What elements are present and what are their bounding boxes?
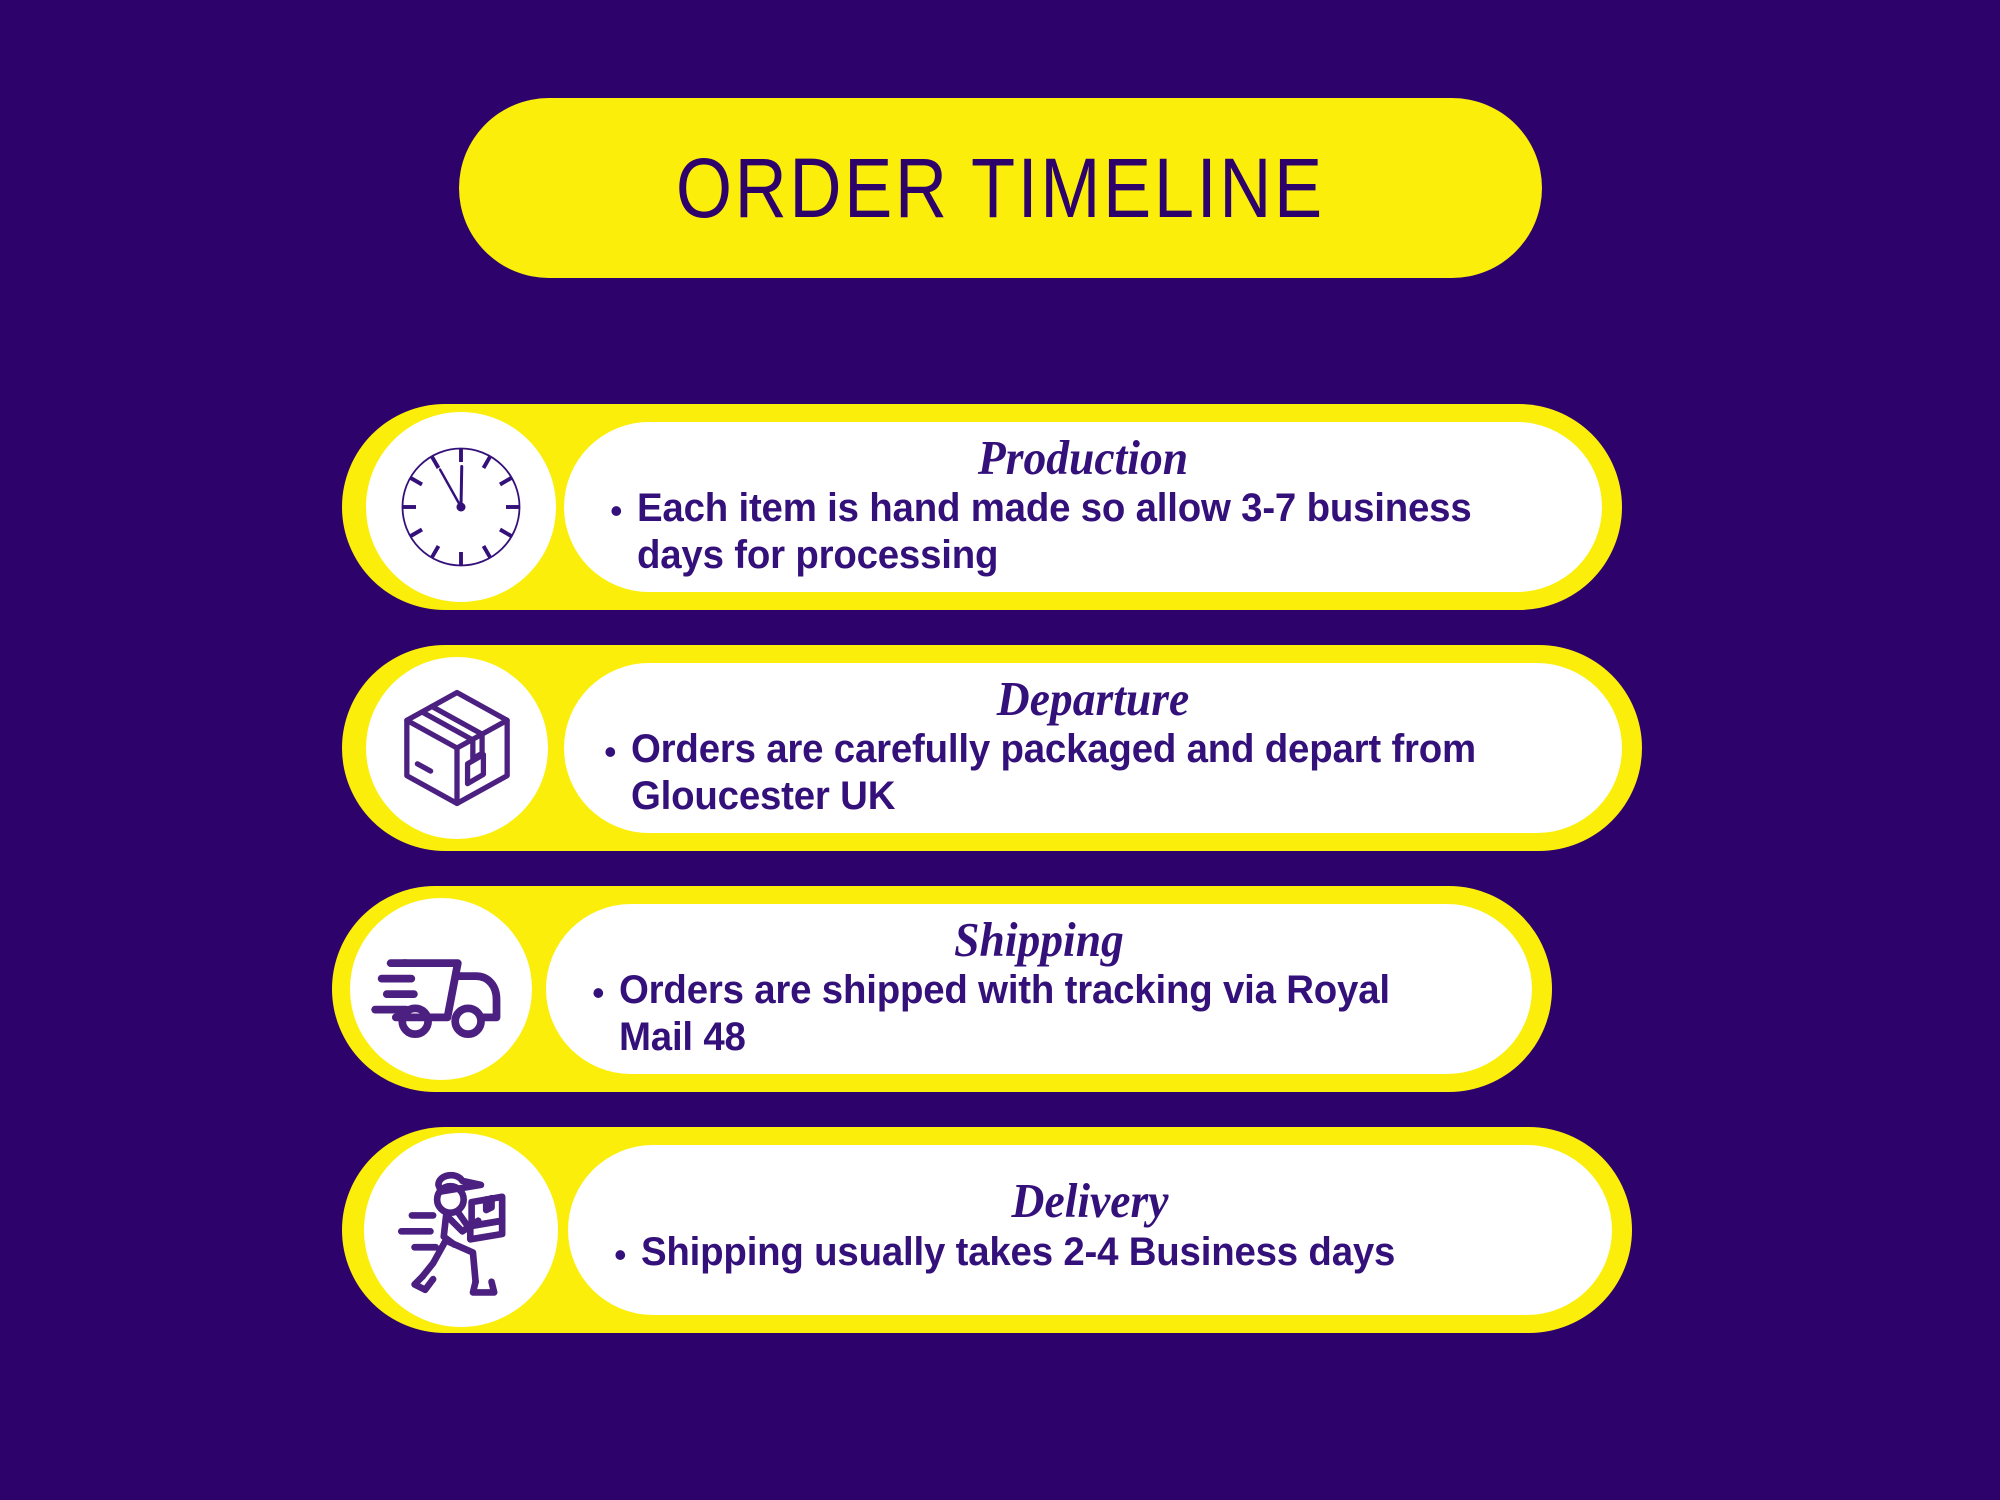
step-bullet-text: Orders are shipped with tracking via Roy… xyxy=(619,967,1457,1060)
step-bullet: • Each item is hand made so allow 3-7 bu… xyxy=(610,485,1562,578)
page-title: ORDER TIMELINE xyxy=(676,146,1325,230)
bullet-marker-icon: • xyxy=(592,967,605,1019)
bullet-marker-icon: • xyxy=(610,485,623,537)
step-content-panel: Production • Each item is hand made so a… xyxy=(564,422,1602,592)
step-content-panel: Departure • Orders are carefully package… xyxy=(564,663,1622,833)
step-title: Delivery xyxy=(642,1175,1539,1226)
step-bullet: • Orders are carefully packaged and depa… xyxy=(604,726,1582,819)
timeline-steps-list: Production • Each item is hand made so a… xyxy=(0,404,2000,1333)
timeline-step-delivery[interactable]: Delivery • Shipping usually takes 2-4 Bu… xyxy=(342,1127,1632,1333)
step-bullet-text: Each item is hand made so allow 3-7 busi… xyxy=(637,485,1525,578)
step-bullet-text: Shipping usually takes 2-4 Business days xyxy=(641,1229,1395,1275)
step-bullet-text: Orders are carefully packaged and depart… xyxy=(631,726,1544,819)
bullet-marker-icon: • xyxy=(614,1229,627,1281)
package-box-icon xyxy=(366,657,548,839)
timeline-step-departure[interactable]: Departure • Orders are carefully package… xyxy=(342,645,1642,851)
clock-icon xyxy=(366,412,556,602)
step-content-panel: Delivery • Shipping usually takes 2-4 Bu… xyxy=(568,1145,1612,1315)
courier-running-icon xyxy=(364,1133,558,1327)
step-title: Production xyxy=(638,432,1529,483)
step-bullet: • Orders are shipped with tracking via R… xyxy=(592,967,1492,1060)
header: ORDER TIMELINE xyxy=(0,98,2000,278)
step-title: Departure xyxy=(638,673,1548,724)
step-bullet: • Shipping usually takes 2-4 Business da… xyxy=(614,1229,1572,1281)
timeline-step-shipping[interactable]: Shipping • Orders are shipped with track… xyxy=(332,886,1552,1092)
step-title: Shipping xyxy=(618,914,1461,965)
step-content-panel: Shipping • Orders are shipped with track… xyxy=(546,904,1532,1074)
bullet-marker-icon: • xyxy=(604,726,617,778)
timeline-step-production[interactable]: Production • Each item is hand made so a… xyxy=(342,404,1622,610)
delivery-truck-icon xyxy=(350,898,532,1080)
title-pill: ORDER TIMELINE xyxy=(459,98,1542,278)
